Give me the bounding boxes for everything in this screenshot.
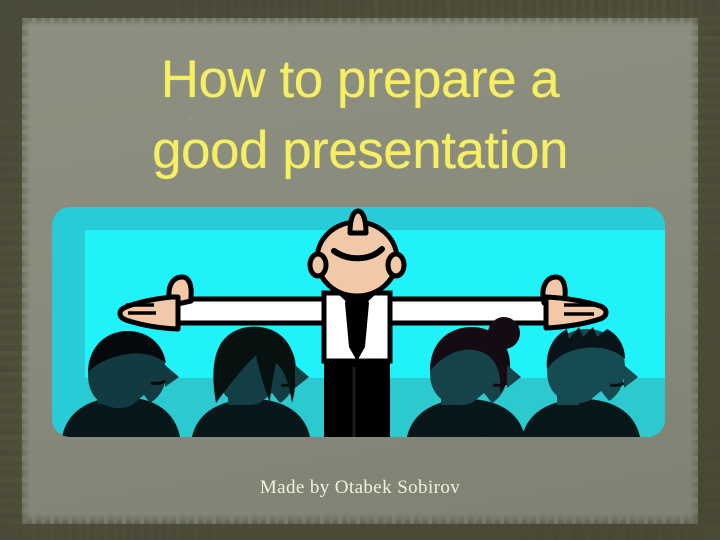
audience-hair-bun — [488, 317, 520, 349]
presenter-nose — [350, 211, 366, 233]
slide-credit: Made by Otabek Sobirov — [0, 477, 720, 499]
presenter-trousers — [324, 359, 390, 437]
paper-torn-edge-bottom — [0, 514, 720, 540]
paper-torn-edge-top — [0, 0, 720, 26]
presenter-ear-left — [310, 254, 326, 276]
presenter-illustration — [52, 207, 665, 437]
paper-torn-edge-left — [0, 0, 30, 540]
slide-title: How to prepare a good presentation — [40, 44, 680, 186]
presentation-slide: How to prepare a good presentation — [0, 0, 720, 540]
presenter-ear-right — [388, 254, 404, 276]
paper-torn-edge-right — [690, 0, 720, 540]
presenter-right-arm — [390, 299, 550, 323]
presenter-illustration-svg — [52, 207, 665, 437]
